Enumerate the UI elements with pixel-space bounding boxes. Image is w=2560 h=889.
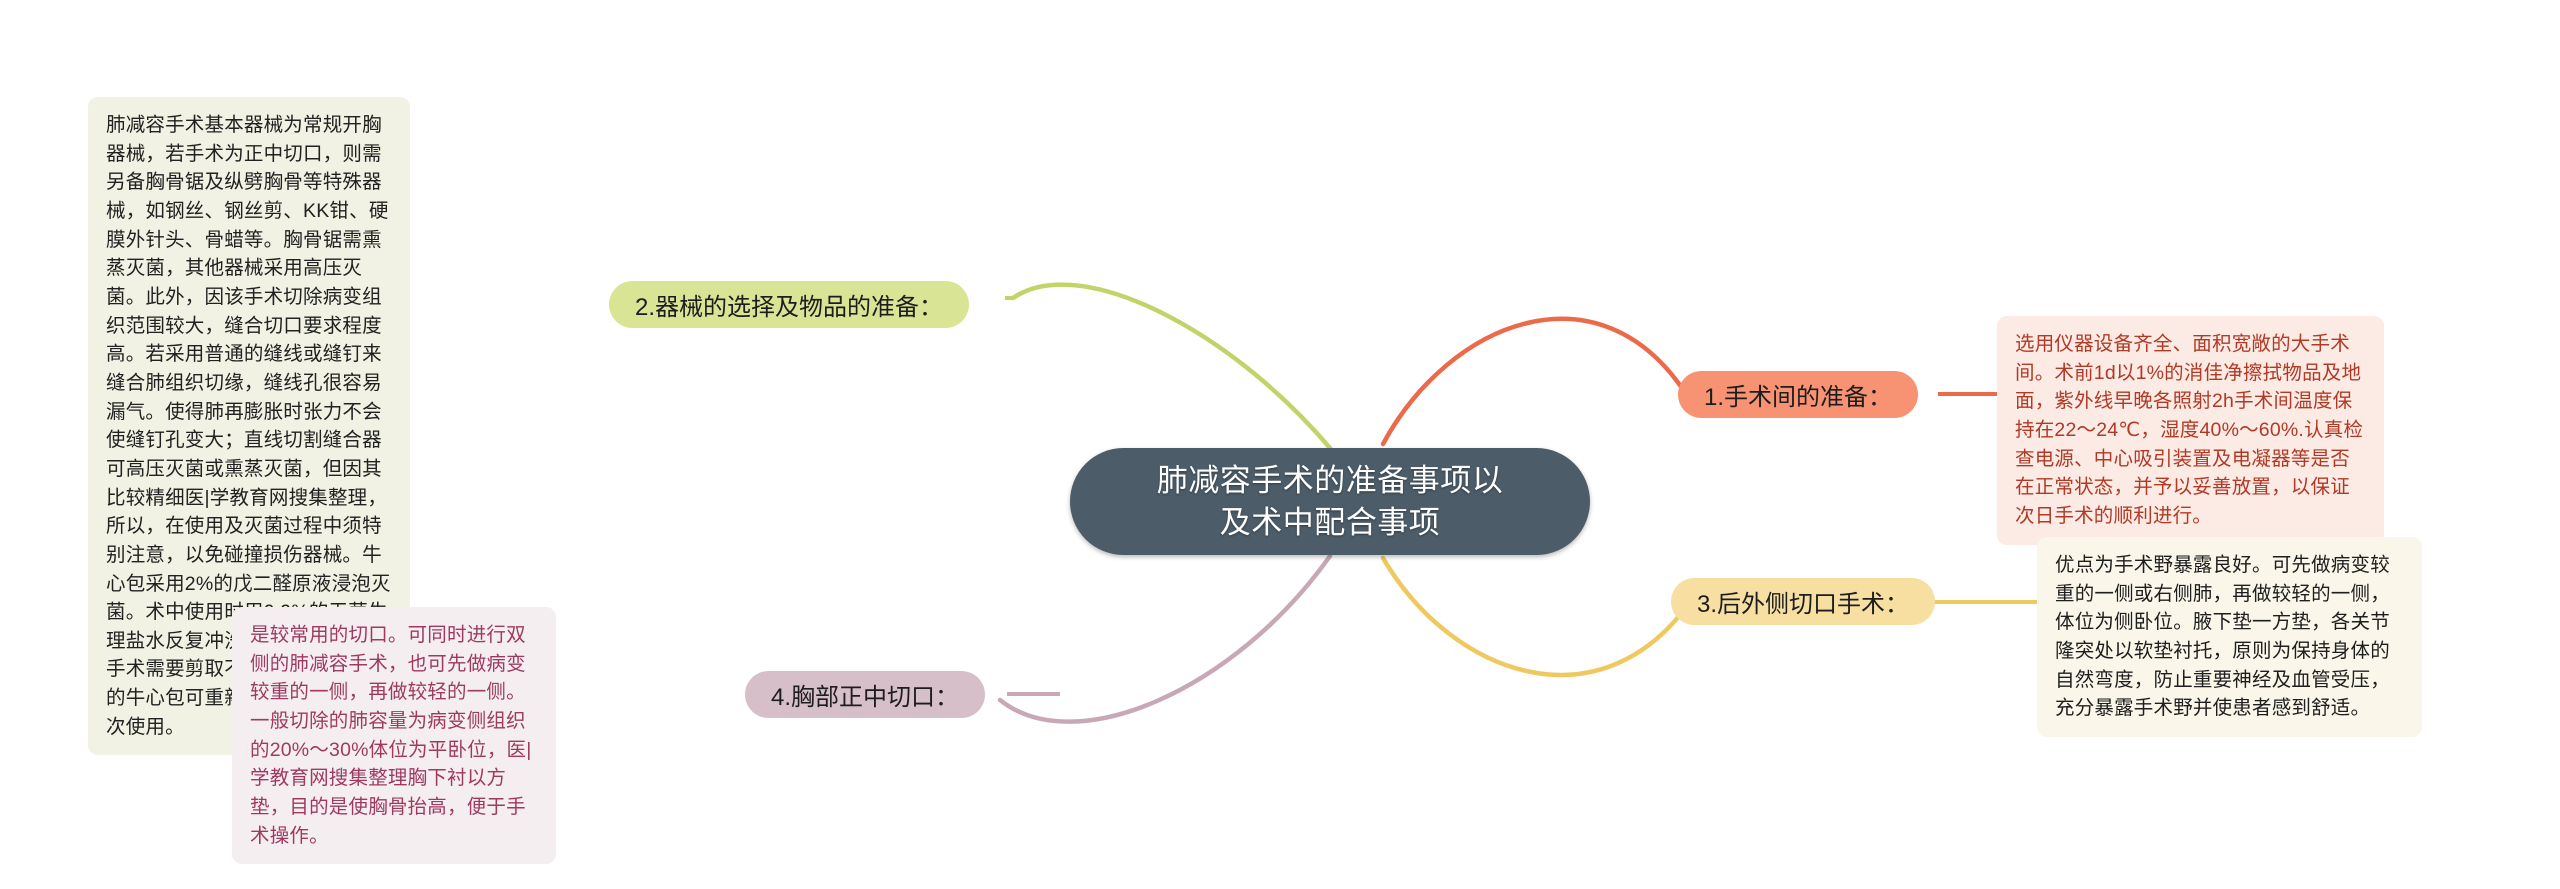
center-node[interactable]: 肺减容手术的准备事项以 及术中配合事项 — [1070, 448, 1590, 555]
branch-node-4[interactable]: 4.胸部正中切口： — [745, 671, 985, 718]
connector-branch-3 — [1383, 558, 1690, 675]
connector-branch-4 — [1000, 556, 1330, 722]
branch-note-1-text: 选用仪器设备齐全、面积宽敞的大手术间。术前1d以1%的消佳净擦拭物品及地面，紫外… — [2015, 333, 2363, 527]
mindmap-canvas: 肺减容手术的准备事项以 及术中配合事项 1.手术间的准备： 2.器械的选择及物品… — [0, 0, 2560, 889]
branch-node-1[interactable]: 1.手术间的准备： — [1678, 371, 1918, 418]
branch-node-3-label: 3.后外侧切口手术： — [1697, 584, 1909, 619]
branch-note-4: 是较常用的切口。可同时进行双侧的肺减容手术，也可先做病变较重的一侧，再做较轻的一… — [232, 607, 556, 864]
branch-note-4-text: 是较常用的切口。可同时进行双侧的肺减容手术，也可先做病变较重的一侧，再做较轻的一… — [250, 624, 532, 847]
branch-note-3: 优点为手术野暴露良好。可先做病变较重的一侧或右侧肺，再做较轻的一侧，体位为侧卧位… — [2037, 537, 2422, 737]
connector-branch-2 — [1013, 285, 1330, 448]
branch-node-4-label: 4.胸部正中切口： — [771, 677, 959, 712]
connector-branch-1 — [1383, 319, 1686, 444]
branch-node-3[interactable]: 3.后外侧切口手术： — [1671, 578, 1935, 625]
center-node-line-1: 肺减容手术的准备事项以 — [1157, 463, 1504, 498]
branch-node-2-label: 2.器械的选择及物品的准备： — [635, 287, 943, 322]
branch-note-3-text: 优点为手术野暴露良好。可先做病变较重的一侧或右侧肺，再做较轻的一侧，体位为侧卧位… — [2055, 554, 2390, 719]
branch-node-1-label: 1.手术间的准备： — [1704, 377, 1892, 412]
center-node-label: 肺减容手术的准备事项以 及术中配合事项 — [1131, 460, 1530, 543]
branch-note-1: 选用仪器设备齐全、面积宽敞的大手术间。术前1d以1%的消佳净擦拭物品及地面，紫外… — [1997, 316, 2384, 545]
center-node-line-2: 及术中配合事项 — [1220, 505, 1441, 540]
branch-node-2[interactable]: 2.器械的选择及物品的准备： — [609, 281, 969, 328]
